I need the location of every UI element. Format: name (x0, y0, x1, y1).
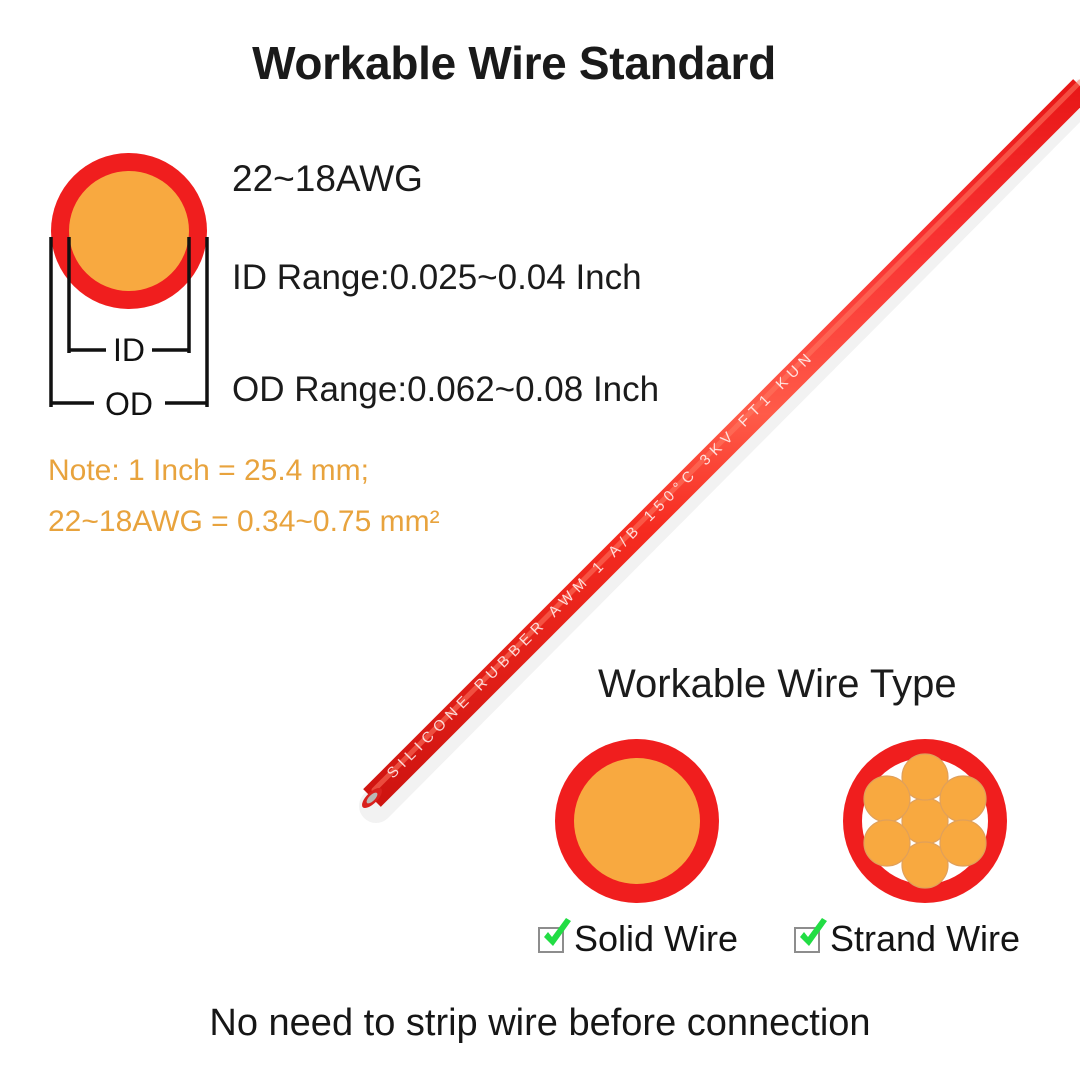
solid-wire-label: Solid Wire (574, 921, 738, 957)
od-dimension-label: OD (105, 386, 153, 422)
strand-wire-label: Strand Wire (830, 921, 1020, 957)
infographic-page: Workable Wire Standard (0, 0, 1080, 1080)
conductor-core (69, 171, 189, 291)
page-title: Workable Wire Standard (0, 36, 1080, 90)
id-dimension-label: ID (113, 332, 145, 368)
wire-cross-section-diagram: ID OD (34, 145, 234, 425)
spec-od-range: OD Range:0.062~0.08 Inch (232, 370, 659, 410)
check-icon (537, 915, 577, 955)
solid-wire-diagram (552, 736, 722, 906)
check-icon (793, 915, 833, 955)
solid-wire-option[interactable]: Solid Wire (538, 918, 738, 960)
strand-wire-diagram (840, 736, 1010, 906)
wire-printed-text: SILICONE RUBBER AWM 1 A/B 150°C 3KV FT1 … (384, 347, 819, 782)
spec-awg-range: 22~18AWG (232, 158, 423, 200)
strand-wire-option[interactable]: Strand Wire (794, 918, 1020, 960)
note-line-2: 22~18AWG = 0.34~0.75 mm² (48, 505, 440, 539)
strand-wire-checkbox[interactable] (794, 924, 824, 954)
note-line-1: Note: 1 Inch = 25.4 mm; (48, 454, 369, 488)
spec-id-range: ID Range:0.025~0.04 Inch (232, 258, 642, 298)
bottom-tagline: No need to strip wire before connection (0, 1002, 1080, 1045)
solid-wire-checkbox[interactable] (538, 924, 568, 954)
wire-type-heading: Workable Wire Type (598, 662, 957, 707)
